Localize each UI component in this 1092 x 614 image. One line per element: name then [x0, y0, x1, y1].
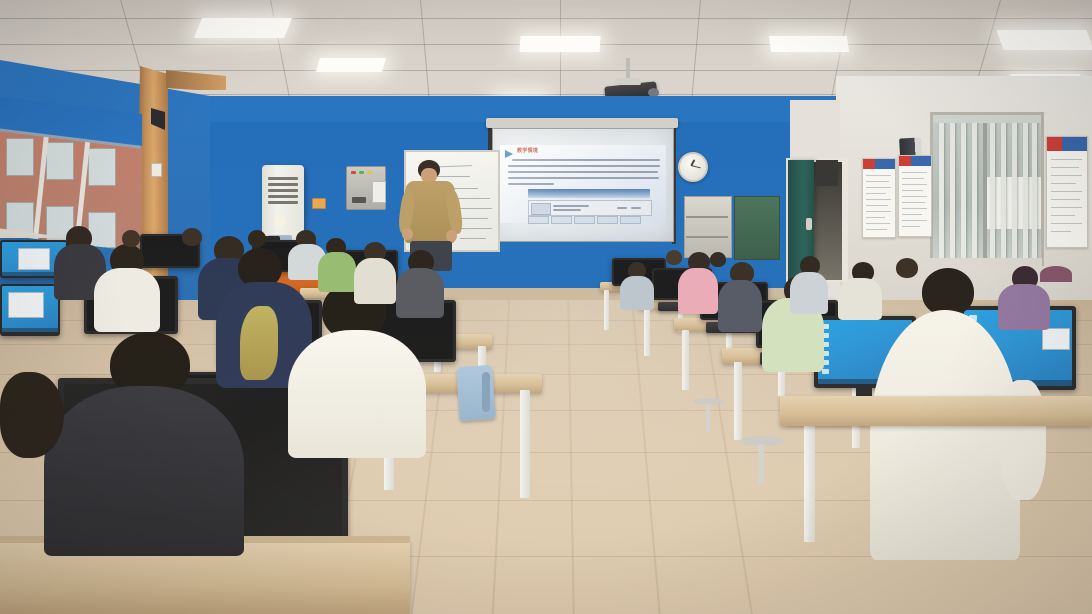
wall-light-switch[interactable]: [151, 163, 162, 177]
teacher-left-hand: [402, 228, 413, 240]
student-torso: [790, 272, 828, 314]
window-security-bar: [990, 115, 995, 263]
ceiling-light-panel: [316, 58, 386, 72]
student-torso: [998, 284, 1050, 330]
window-security-bar: [1032, 115, 1037, 263]
wall-control-panel[interactable]: [346, 166, 386, 210]
stool-leg: [758, 444, 764, 484]
student-torso: [354, 258, 396, 304]
stool-leg: [706, 404, 710, 432]
window-security-bar: [972, 115, 977, 263]
student-head: [0, 372, 64, 458]
taskbar[interactable]: [2, 328, 58, 332]
wall-clock: [678, 152, 708, 182]
student-head: [896, 258, 918, 278]
projector-bracket: [615, 78, 641, 85]
equipment-rack-shelf: [686, 216, 728, 218]
desk-leg: [520, 390, 530, 498]
lab-rules-poster-1: [862, 158, 896, 238]
classroom-photo: 教学情境: [0, 0, 1092, 614]
wall-cabinet: [734, 196, 780, 260]
student-torso: [318, 252, 356, 292]
student-torso: [396, 268, 444, 318]
student-desk: [780, 396, 1092, 426]
projection-screen-case: [486, 118, 678, 128]
lab-rules-poster-2: [898, 155, 932, 237]
desk-leg: [804, 422, 815, 542]
student-head: [710, 252, 726, 267]
right-window: [930, 112, 1044, 266]
desk-leg: [682, 330, 689, 390]
ceiling-light-panel: [769, 36, 849, 52]
student-head: [122, 230, 140, 247]
student-torso: [718, 280, 762, 332]
monitor-desktop-screen[interactable]: [2, 286, 58, 332]
right-window-sill: [926, 258, 1042, 266]
equipment-rack-shelf: [686, 236, 728, 238]
projection-screen: 教学情境: [492, 128, 674, 242]
clock-minute-hand: [691, 165, 701, 169]
desk-leg: [644, 308, 650, 356]
student-head: [248, 230, 266, 247]
student-torso: [44, 386, 244, 556]
lab-rules-poster-3: [1046, 136, 1088, 248]
window-security-bar: [939, 115, 944, 263]
student-head: [666, 250, 682, 265]
window-security-bar: [950, 115, 955, 263]
equipment-rack: [684, 196, 732, 258]
student-torso: [288, 330, 426, 458]
ceiling-light-panel: [996, 30, 1092, 50]
backpack-strap: [482, 372, 490, 412]
desk-leg: [604, 290, 609, 330]
desk-leg: [734, 362, 742, 440]
student-head: [922, 268, 974, 316]
student-torso: [620, 276, 654, 310]
door-handle[interactable]: [806, 218, 812, 230]
window-security-bar: [961, 115, 966, 263]
window-security-bar: [1012, 115, 1017, 263]
ceiling-light-panel: [519, 36, 600, 52]
door-window-bars: [816, 160, 838, 186]
shirt-graphic: [240, 306, 278, 380]
student-cap: [1040, 266, 1072, 282]
student-torso: [870, 310, 1020, 560]
desktop-monitor: [0, 284, 60, 336]
student-torso: [94, 268, 160, 332]
window-security-bar: [1023, 115, 1028, 263]
window-security-bar: [1001, 115, 1006, 263]
wall-outlet[interactable]: [312, 198, 326, 209]
ceiling-light-panel: [194, 18, 292, 38]
student-torso: [838, 278, 882, 320]
student-head: [182, 228, 202, 246]
student-torso: [678, 268, 718, 314]
